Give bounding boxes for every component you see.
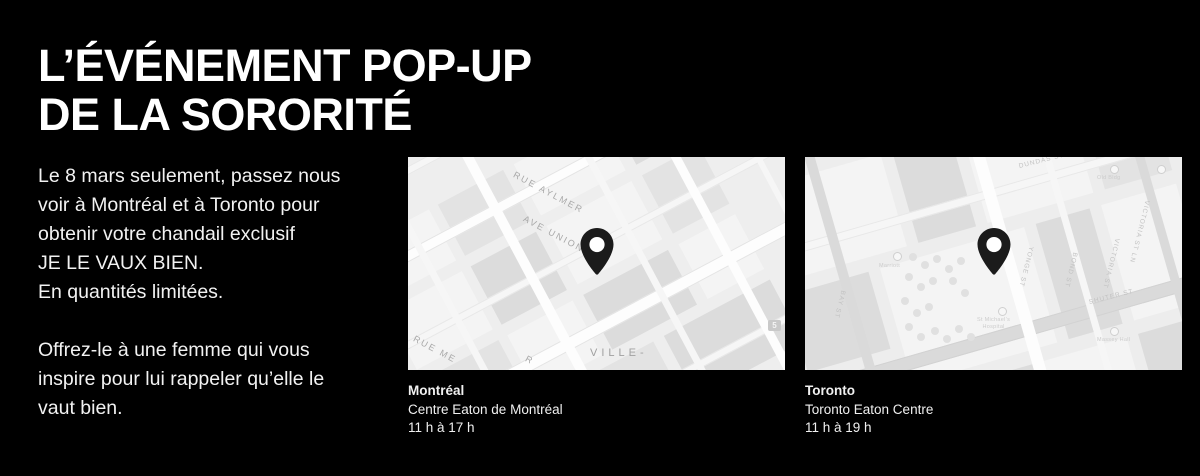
- map-montreal[interactable]: RUE AYLMER AVE UNION RUE ME R VILLE- 5: [408, 157, 785, 370]
- poi-label-hospital: St Michael’s Hospital: [977, 317, 1010, 330]
- caption-toronto: Toronto Toronto Eaton Centre 11 h à 19 h: [805, 382, 1182, 438]
- area-label-ville: VILLE-: [590, 347, 648, 359]
- poi-marker: [1110, 327, 1119, 336]
- location-card-toronto[interactable]: DUNDAS ST YONGE ST VICTORIA ST VICTORIA …: [805, 157, 1182, 438]
- body-paragraph-1: Le 8 mars seulement, passez nous voir à …: [38, 162, 390, 307]
- body-paragraph-2: Offrez-le à une femme qui vous inspire p…: [38, 336, 390, 423]
- map-pin-icon: [577, 226, 617, 278]
- location-cards: RUE AYLMER AVE UNION RUE ME R VILLE- 5 M…: [408, 157, 1168, 438]
- venue-name: Centre Eaton de Montréal: [408, 401, 785, 420]
- poi-marker: [1157, 165, 1166, 174]
- map-pin-icon: [974, 226, 1014, 278]
- city-name: Montréal: [408, 382, 785, 401]
- poi-label-old-bldg: Old Bldg: [1097, 175, 1121, 181]
- opening-hours: 11 h à 17 h: [408, 419, 785, 438]
- page-title: L’ÉVÉNEMENT POP-UP DE LA SORORITÉ: [38, 41, 738, 139]
- opening-hours: 11 h à 19 h: [805, 419, 1182, 438]
- poi-label-marriott: Marriott: [879, 263, 900, 269]
- poi-marker: [1110, 165, 1119, 174]
- city-name: Toronto: [805, 382, 1182, 401]
- route-shield-badge: 5: [768, 320, 781, 331]
- poi-marker: [998, 307, 1007, 316]
- caption-montreal: Montréal Centre Eaton de Montréal 11 h à…: [408, 382, 785, 438]
- poi-label-massey-hall: Massey Hall: [1097, 337, 1130, 343]
- venue-name: Toronto Eaton Centre: [805, 401, 1182, 420]
- poi-marker: [893, 252, 902, 261]
- map-toronto[interactable]: DUNDAS ST YONGE ST VICTORIA ST VICTORIA …: [805, 157, 1182, 370]
- body-copy: Le 8 mars seulement, passez nous voir à …: [38, 162, 390, 423]
- location-card-montreal[interactable]: RUE AYLMER AVE UNION RUE ME R VILLE- 5 M…: [408, 157, 785, 438]
- promo-banner: L’ÉVÉNEMENT POP-UP DE LA SORORITÉ Le 8 m…: [0, 0, 1200, 476]
